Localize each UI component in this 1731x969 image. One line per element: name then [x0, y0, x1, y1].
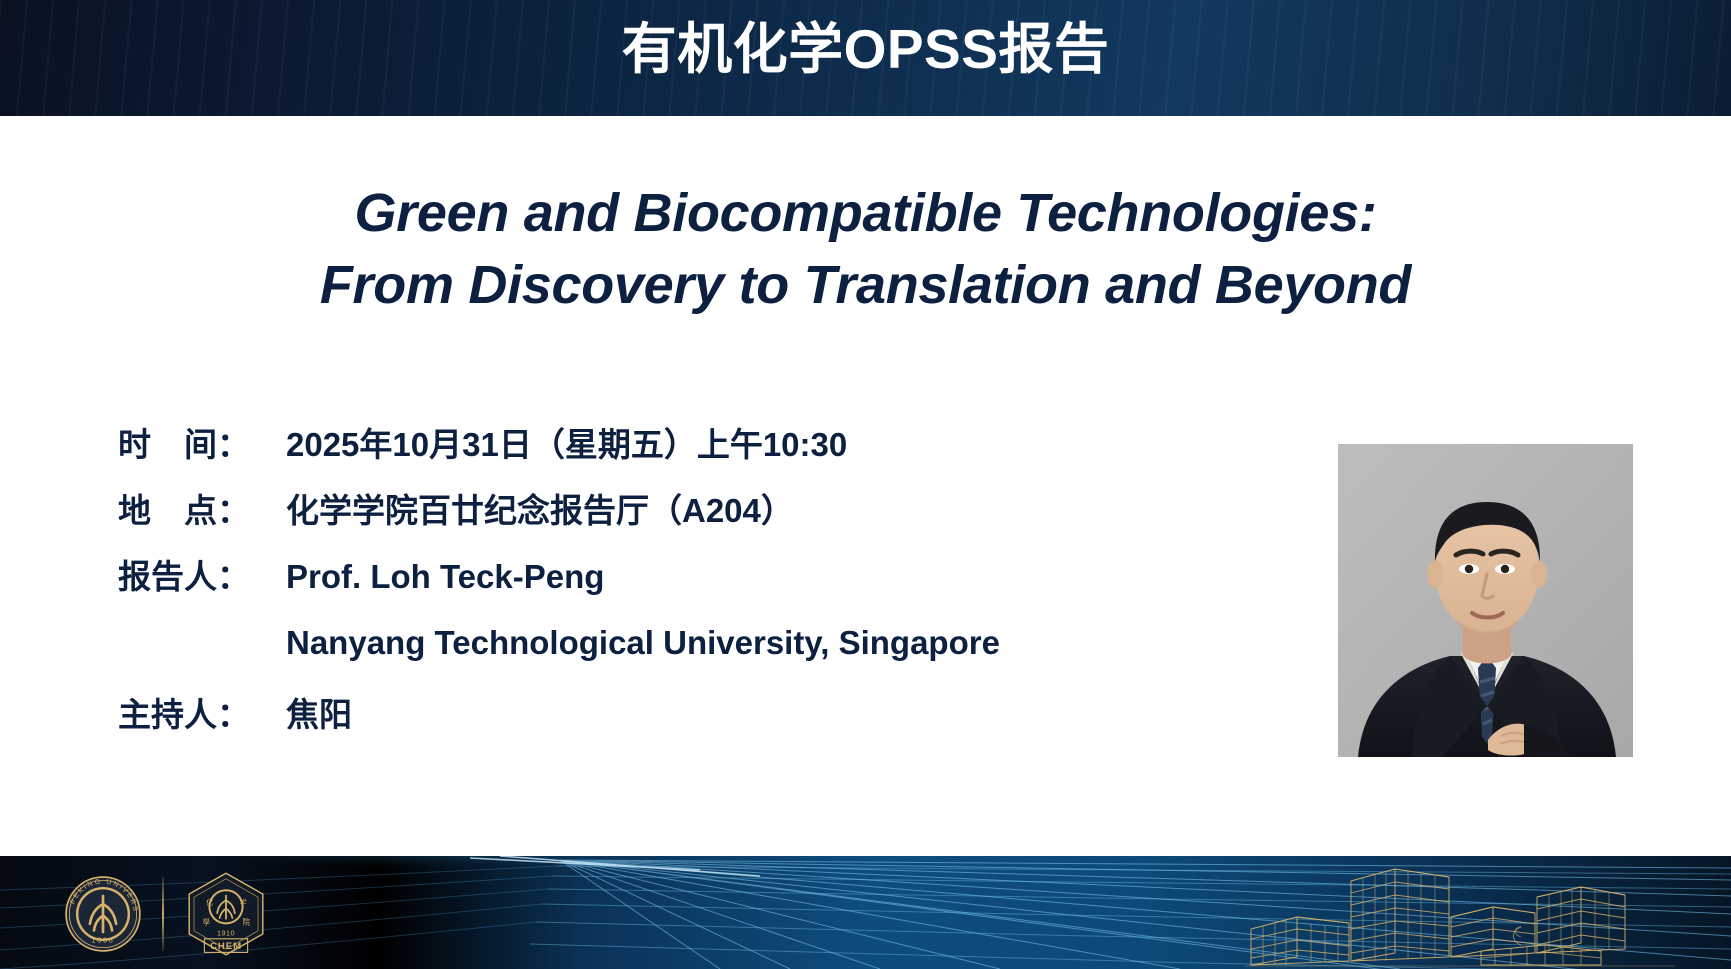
header-banner: 有机化学OPSS报告	[0, 0, 1731, 116]
page-title: 有机化学OPSS报告	[0, 16, 1731, 82]
speaker-name: Prof. Loh Teck-Peng	[286, 558, 1228, 596]
detail-row-venue: 地 点： 化学学院百廿纪念报告厅（A204）	[118, 484, 1228, 532]
college-of-chemistry-seal-icon: 化 学 學 院 1910 CHEM	[182, 870, 270, 958]
talk-title-line-2: From Discovery to Translation and Beyond	[60, 250, 1671, 322]
svg-text:学: 学	[240, 898, 247, 907]
talk-title-line-1: Green and Biocompatible Technologies:	[60, 178, 1671, 250]
time-label: 时 间：	[118, 418, 286, 466]
host-name: 焦阳	[286, 688, 1228, 736]
venue-label: 地 点：	[118, 484, 286, 532]
svg-text:1898: 1898	[92, 936, 115, 945]
svg-text:化: 化	[206, 898, 213, 907]
svg-text:院: 院	[243, 917, 250, 926]
detail-row-time: 时 间： 2025年10月31日（星期五）上午10:30	[118, 418, 1228, 466]
detail-row-host: 主持人： 焦阳	[118, 688, 1228, 736]
logo-divider	[162, 877, 164, 951]
venue-value: 化学学院百廿纪念报告厅（A204）	[286, 484, 1228, 532]
time-value: 2025年10月31日（星期五）上午10:30	[286, 418, 1228, 466]
svg-text:學: 學	[203, 917, 210, 926]
detail-row-affiliation: 报告人： Nanyang Technological University, S…	[118, 616, 1228, 664]
seminar-poster: 有机化学OPSS报告 Green and Biocompatible Techn…	[0, 0, 1731, 969]
chemistry-building-wireframe-icon	[1245, 861, 1675, 969]
speaker-label: 报告人：	[118, 550, 286, 598]
speaker-affiliation: Nanyang Technological University, Singap…	[286, 624, 1228, 662]
talk-title: Green and Biocompatible Technologies: Fr…	[60, 178, 1671, 322]
host-label: 主持人：	[118, 688, 286, 736]
svg-text:1910: 1910	[217, 929, 235, 938]
footer-banner: PEKING UNIVERSITY 1898 化 学	[0, 856, 1731, 969]
peking-university-seal-icon: PEKING UNIVERSITY 1898	[62, 873, 144, 955]
footer-logo-group: PEKING UNIVERSITY 1898 化 学	[62, 870, 270, 958]
speaker-portrait-photo	[1338, 444, 1633, 757]
detail-row-speaker: 报告人： Prof. Loh Teck-Peng	[118, 550, 1228, 598]
svg-text:CHEM: CHEM	[210, 941, 242, 952]
seminar-details: 时 间： 2025年10月31日（星期五）上午10:30 地 点： 化学学院百廿…	[118, 418, 1228, 736]
portrait-illustration	[1338, 444, 1633, 757]
